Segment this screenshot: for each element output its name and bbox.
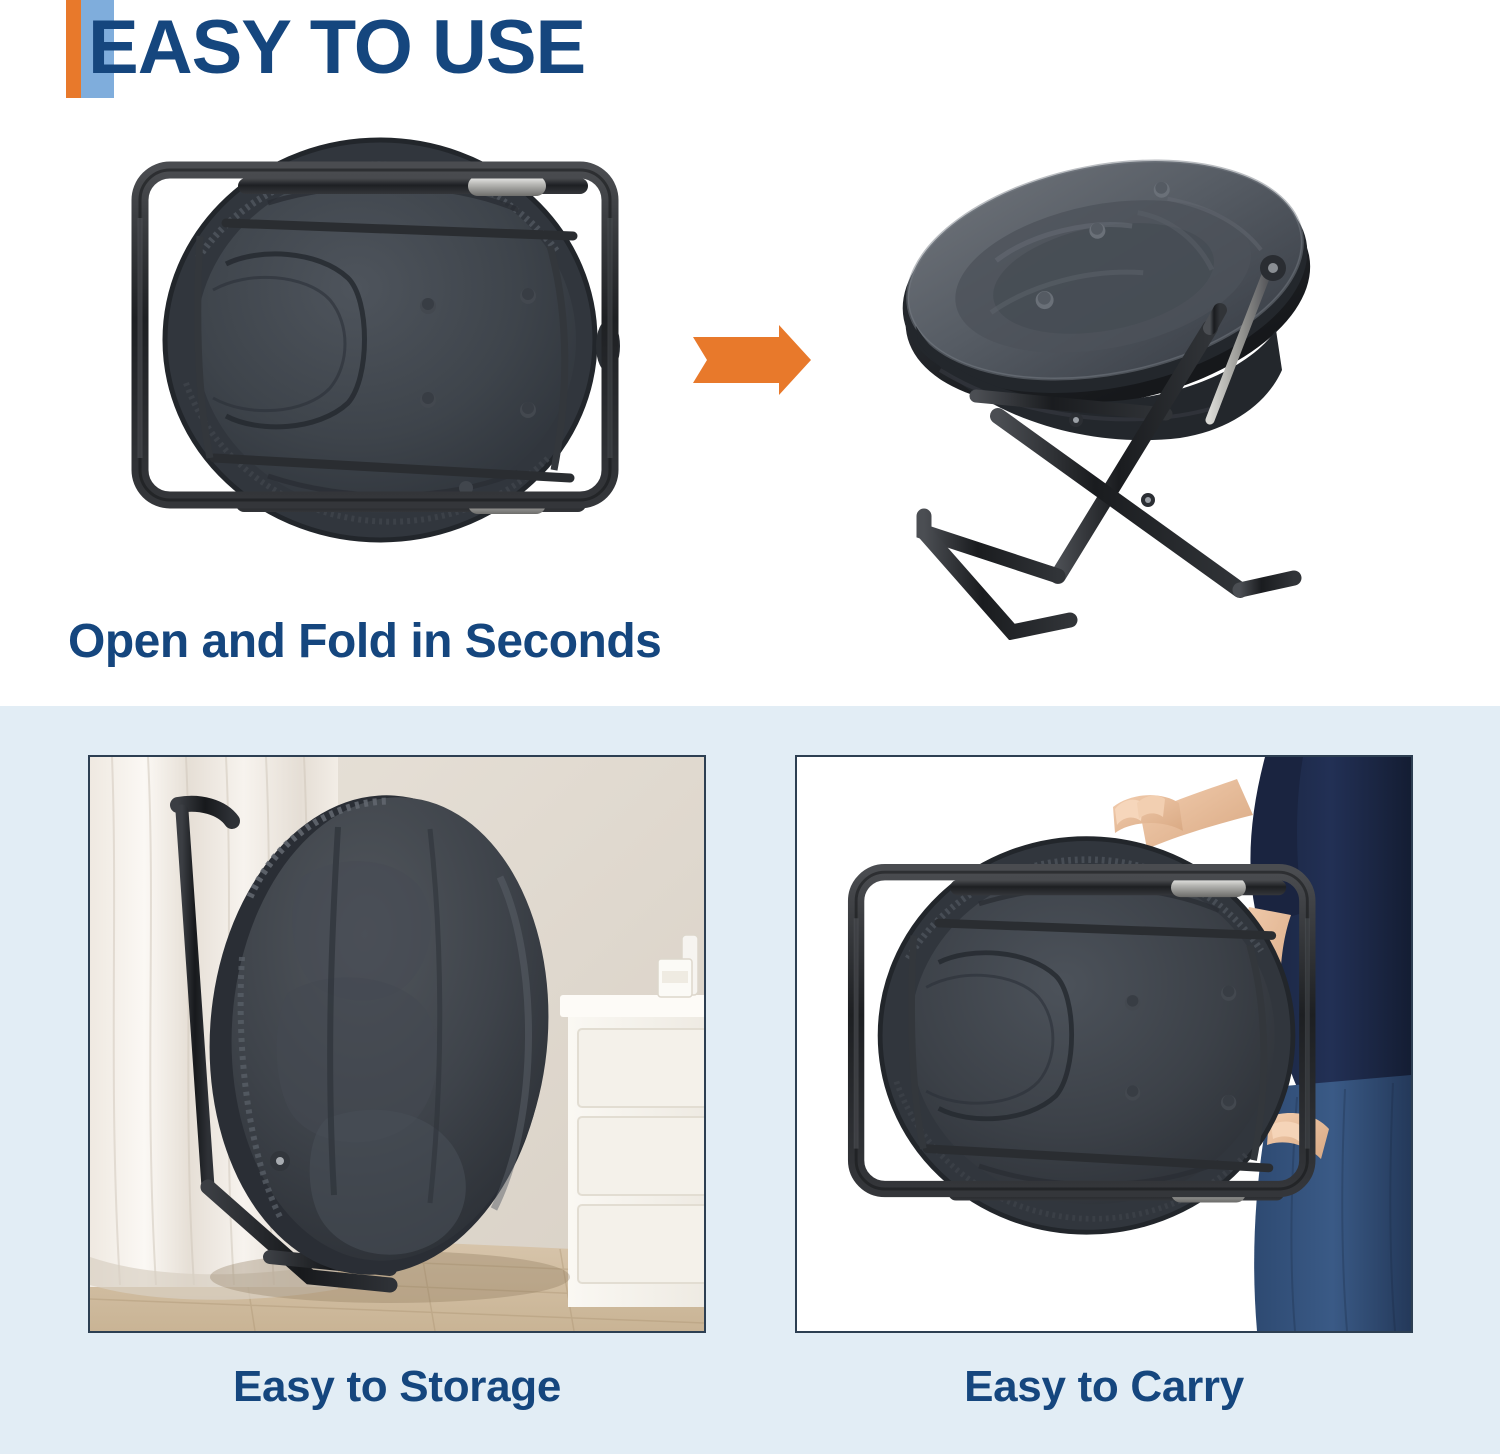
caption-easy-to-storage: Easy to Storage xyxy=(88,1362,706,1412)
caption-easy-to-carry: Easy to Carry xyxy=(795,1362,1413,1412)
section-subtitle: Open and Fold in Seconds xyxy=(68,614,661,669)
right-arrow-icon xyxy=(693,325,811,395)
infographic-page: EASY TO USE xyxy=(0,0,1500,1454)
top-section: EASY TO USE xyxy=(0,0,1500,706)
header: EASY TO USE xyxy=(0,0,585,100)
folded-chair-back-view-image xyxy=(118,128,648,558)
page-title: EASY TO USE xyxy=(88,0,585,100)
photo-card-storage xyxy=(88,755,706,1333)
bottom-section: Easy to Storage xyxy=(0,706,1500,1454)
photo-card-carry xyxy=(795,755,1413,1333)
product-comparison-row xyxy=(0,110,1500,600)
open-saucer-chair-image xyxy=(880,120,1330,640)
accent-bar-orange xyxy=(66,0,81,98)
